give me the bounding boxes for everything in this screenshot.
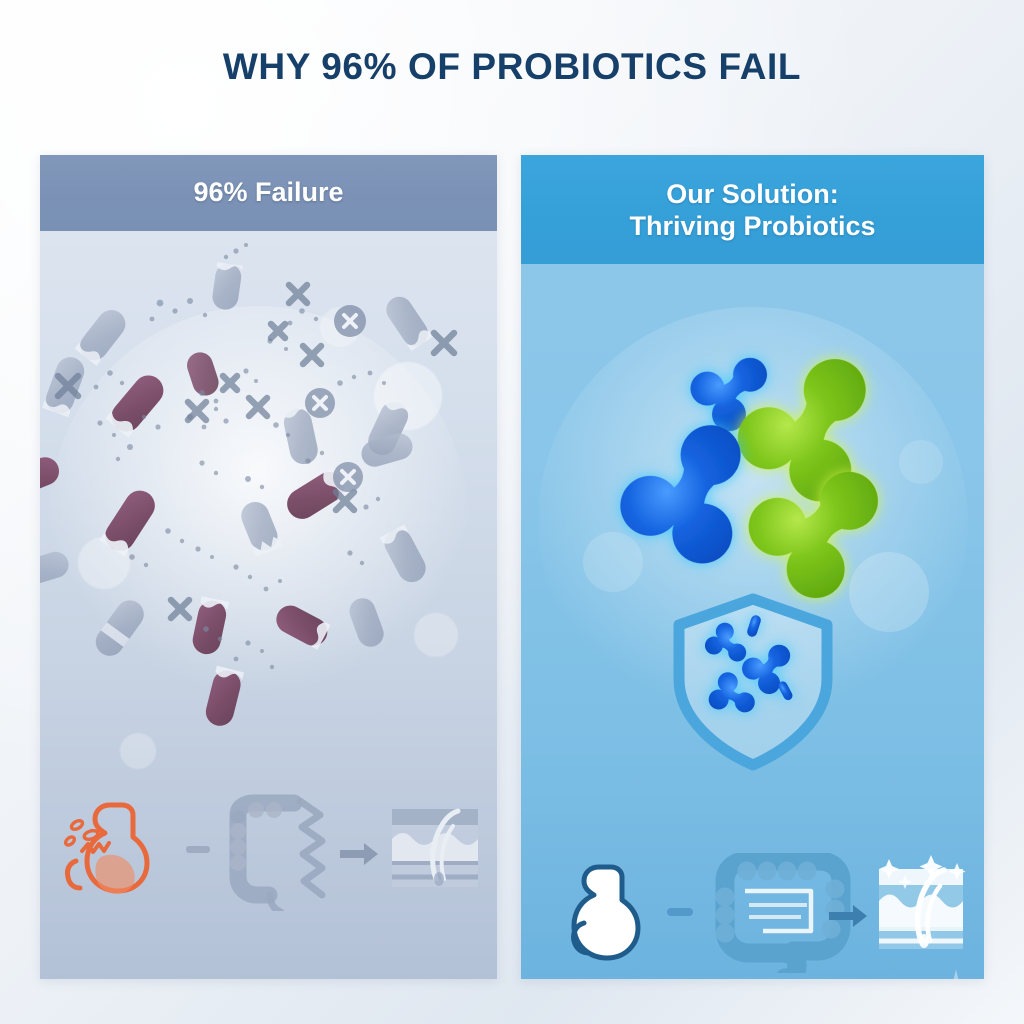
left-illustration-area bbox=[40, 231, 497, 979]
right-organ-pathway bbox=[521, 853, 984, 973]
infographic-canvas: WHY 96% OF PROBIOTICS FAIL bbox=[0, 0, 1024, 1024]
right-header-line2: Thriving Probiotics bbox=[629, 211, 875, 243]
intestine-icon bbox=[230, 801, 322, 911]
protective-shield-icon bbox=[679, 599, 827, 765]
right-header-line1: Our Solution: bbox=[629, 179, 875, 211]
right-illustration-area bbox=[521, 262, 984, 979]
stomach-icon bbox=[64, 805, 147, 894]
panel-solution: Our Solution: Thriving Probiotics Acid-R… bbox=[521, 155, 984, 979]
panel-failure: 96% Failure Stomach Acid + Poor Survivab… bbox=[40, 155, 497, 979]
dash-connector bbox=[186, 846, 210, 853]
left-header-text: 96% Failure bbox=[193, 177, 343, 209]
arrow-icon bbox=[340, 843, 378, 865]
left-organ-pathway bbox=[40, 791, 497, 911]
dash-connector bbox=[667, 908, 693, 916]
skin-layers-icon bbox=[879, 855, 966, 949]
intestine-icon bbox=[716, 861, 845, 973]
page-title: WHY 96% OF PROBIOTICS FAIL bbox=[0, 46, 1024, 88]
skin-layers-icon bbox=[392, 809, 478, 887]
right-panel-header: Our Solution: Thriving Probiotics bbox=[521, 155, 984, 264]
stomach-icon bbox=[574, 867, 638, 958]
left-panel-header: 96% Failure bbox=[40, 155, 497, 231]
